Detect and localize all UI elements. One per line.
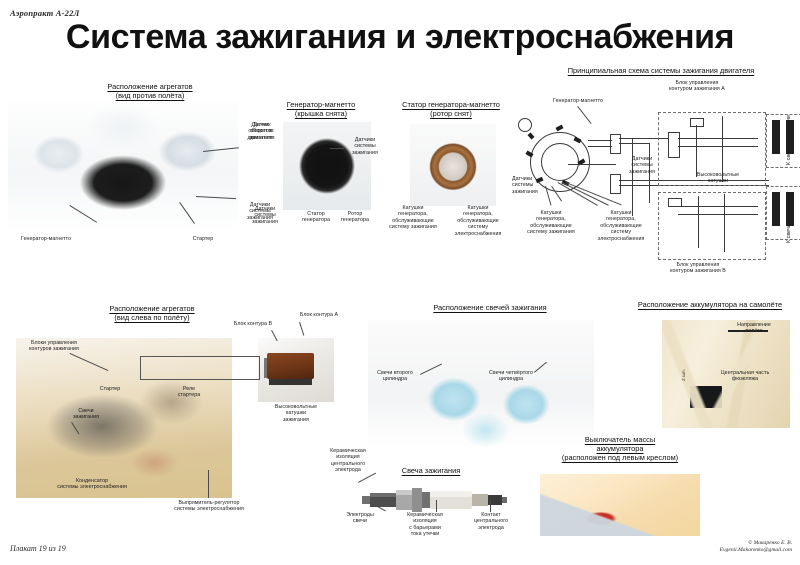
- label-schematic-coils-power: Катушки генератора, обслуживающие систем…: [590, 210, 652, 242]
- label-schematic-hv-coils: Высоковольтные катушки: [684, 172, 752, 185]
- hv-coils-photo: [258, 338, 334, 402]
- magneto-coil: [555, 125, 563, 132]
- wire: [678, 206, 758, 207]
- master-switch-photo: [540, 474, 700, 536]
- battery-unit: [690, 386, 722, 408]
- wire: [724, 194, 725, 252]
- flight-direction-arrow: [728, 330, 768, 332]
- label-generator-rotor: Ротор генератора: [332, 211, 378, 224]
- leader-line: [208, 470, 209, 498]
- leader-line: [562, 182, 609, 205]
- wire: [632, 138, 633, 216]
- leader-line: [358, 473, 376, 483]
- hv-coil: [772, 120, 780, 154]
- wire: [696, 125, 697, 177]
- section-title-spark-plug: Свеча зажигания: [376, 466, 486, 475]
- plate-number: Плакат 19 из 19: [10, 544, 66, 553]
- section-title-units-left: Расположение агрегатов (вид слева по пол…: [62, 304, 242, 322]
- label-plug-electrodes: Электроды свечи: [334, 512, 386, 525]
- callout-frame: [140, 356, 260, 380]
- wire: [568, 164, 616, 165]
- label-schematic-ignition-sensors-right: Датчики системы зажигания: [620, 156, 664, 175]
- label-hv-coils-caption: Высоковольтные катушки зажигания: [256, 404, 336, 423]
- label-block-b: Блок контура В: [222, 321, 284, 327]
- wire: [619, 143, 649, 144]
- document-code: Аэропракт А-22Л: [10, 8, 80, 18]
- wire: [588, 146, 612, 147]
- label-ceramic-barriers: Керамическая изоляция с барьерами тока у…: [392, 512, 458, 538]
- label-control-unit-a: Блок управления контуром зажигания А: [650, 80, 744, 93]
- section-title-units-front: Расположение агрегатов (вид против полёт…: [60, 82, 240, 100]
- leader-line: [300, 322, 305, 335]
- label-generator-magneto-front: Генератор-магнетто: [6, 236, 86, 242]
- label-fuselage-center: Центральная часть фюзеляжа: [714, 370, 776, 383]
- label-to-spark-plugs-a: К свечам зажигания: [786, 112, 794, 168]
- component: [668, 132, 680, 158]
- magneto-cover-photo: [283, 122, 371, 210]
- wire: [678, 138, 758, 139]
- label-spark-plugs-left: Свечи зажигания: [62, 408, 110, 421]
- label-control-units-left: Блоки управления контуров зажигания: [12, 340, 96, 353]
- section-title-battery-location: Расположение аккумулятора на самолёте: [620, 300, 800, 309]
- label-ignition-sensors-magneto-bottom: Датчики системы зажигания: [242, 206, 288, 225]
- section-title-schematic: Принципиальная схема системы зажигания д…: [528, 66, 794, 75]
- copyright-line: © Макаренко Е. В.: [720, 540, 792, 547]
- label-starter-left: Стартер: [88, 386, 132, 392]
- label-cylinder-2-plugs: Свечи второго цилиндра: [366, 370, 424, 383]
- stator-photo: [410, 124, 496, 206]
- label-center-contact: Контакт центрального электрода: [462, 512, 520, 531]
- label-to-spark-plugs-b: К свечам зажигания: [786, 190, 794, 246]
- hv-coil: [772, 192, 780, 226]
- label-capacitor: Конденсатор системы электроснабжения: [34, 478, 150, 491]
- label-frame-number: 2 шп.: [682, 362, 690, 388]
- section-title-master-switch: Выключатель массы аккумулятора (располож…: [528, 435, 712, 462]
- plugs-location-photo: [368, 320, 594, 448]
- magneto-coil: [528, 132, 535, 139]
- label-cylinder-4-plugs: Свечи четвёртого цилиндра: [480, 370, 542, 383]
- wire: [678, 146, 758, 147]
- terminal-strip-b: [610, 174, 621, 194]
- leader-line: [330, 148, 344, 149]
- poster-page: Аэропракт А-22Л Система зажигания и элек…: [0, 0, 800, 565]
- label-block-a: Блок контура А: [286, 312, 352, 318]
- label-schematic-coils-ignition: Катушки генератора, обслуживающие систем…: [520, 210, 582, 236]
- wire: [698, 196, 699, 248]
- leader-line: [436, 500, 437, 512]
- label-ignition-sensors-magneto-right: Датчики системы зажигания: [342, 137, 388, 156]
- label-flight-direction: Направление полёта: [726, 322, 782, 335]
- copyright-block: © Макаренко Е. В. Evgenii.Makarenko@gmai…: [720, 540, 792, 554]
- label-starter-front: Стартер: [178, 236, 228, 242]
- label-rpm-sensor-magneto: Датчик оборотов двигателя: [238, 122, 282, 141]
- ignition-schematic: [512, 86, 800, 276]
- wire: [588, 140, 612, 141]
- label-starter-relay: Реле стартера: [168, 386, 210, 399]
- page-title: Система зажигания и электроснабжения: [0, 18, 800, 57]
- label-coils-ignition-stator: Катушки генератора, обслуживающие систем…: [384, 205, 442, 231]
- label-ceramic-center-insulation: Керамическая изоляция центрального элект…: [318, 448, 378, 474]
- engine-front-photo: [8, 102, 238, 232]
- label-schematic-generator-magneto: Генератор-магнетто: [540, 98, 616, 104]
- magneto-small-circle: [518, 118, 532, 132]
- section-title-magneto-cover: Генератор-магнетто (крышка снята): [256, 100, 386, 118]
- label-rectifier-regulator: Выпрямитель-регулятор системы электросна…: [146, 500, 272, 513]
- component: [690, 118, 704, 127]
- section-title-stator: Статор генератора-магнетто (ротор снят): [386, 100, 516, 118]
- leader-line: [490, 500, 491, 512]
- label-control-unit-b: Блок управления контуром зажигания В: [648, 262, 748, 275]
- label-coils-power-stator: Катушки генератора, обслуживающие систем…: [448, 205, 508, 237]
- email-line: Evgenii.Makarenko@gmail.com: [720, 547, 792, 554]
- label-schematic-ignition-sensors-left: Датчики системы зажигания: [512, 176, 552, 195]
- terminal-strip-a: [610, 134, 621, 154]
- wire: [678, 214, 758, 215]
- section-title-plugs-location: Расположение свечей зажигания: [388, 303, 592, 312]
